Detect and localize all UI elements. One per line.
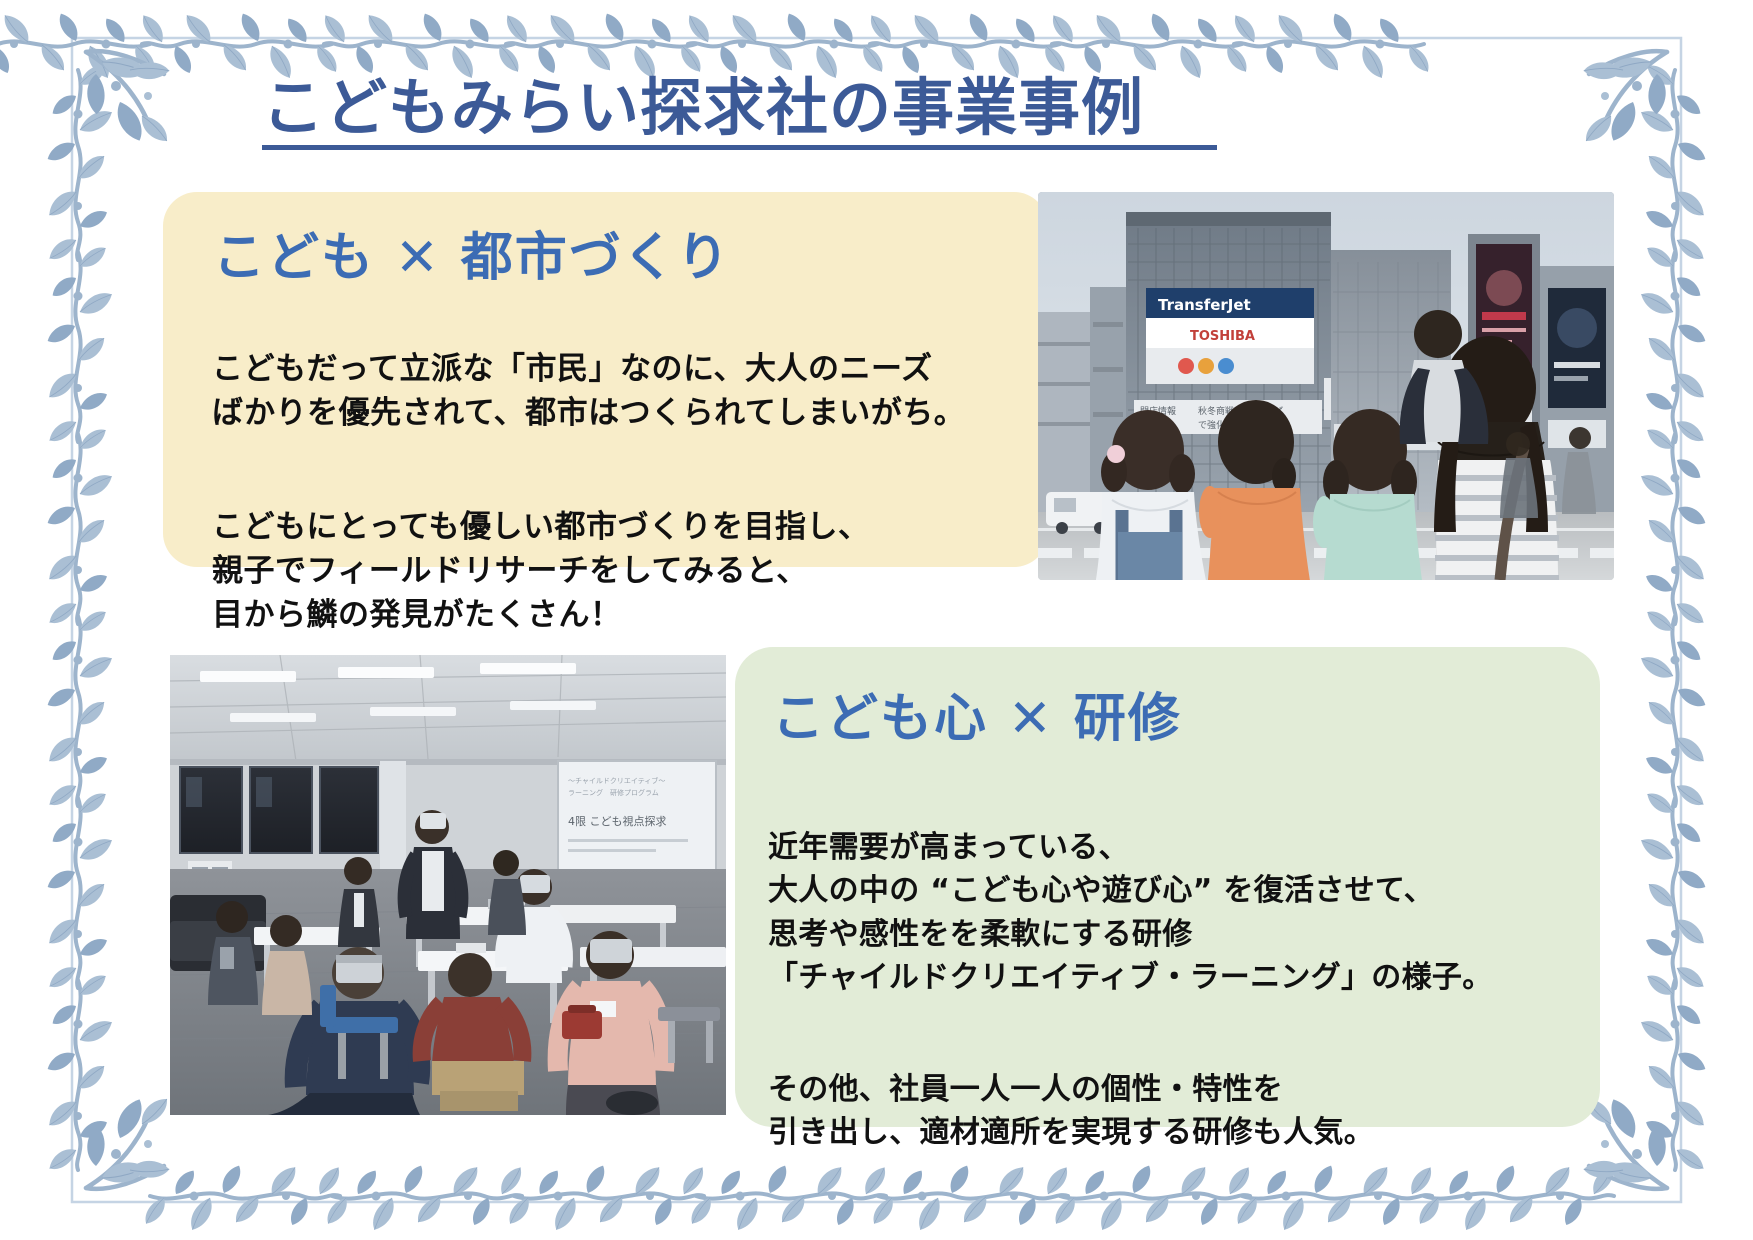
section-body-training: 近年需要が高まっている、 大人の中の “こども心や遊び心” を復活させて、 思考… bbox=[768, 783, 1588, 1198]
svg-text:〜チャイルドクリエイティブ〜: 〜チャイルドクリエイティブ〜 bbox=[568, 776, 665, 785]
svg-text:TOSHIBA: TOSHIBA bbox=[1190, 329, 1255, 344]
svg-text:ラーニング 研修プログラム: ラーニング 研修プログラム bbox=[568, 788, 659, 797]
page-title: こどもみらい探求社の事業事例 bbox=[262, 72, 1262, 143]
photo-training-seminar: 〜チャイルドクリエイティブ〜 ラーニング 研修プログラム 4限 こども視点探求 bbox=[170, 655, 726, 1115]
training-paragraph-2: その他、社員一人一人の個性・特性を 引き出し、適材適所を実現する研修も人気。 bbox=[768, 1068, 1588, 1154]
section-body-city: こどもだって立派な「市民」なのに、大人のニーズ ばかりを優先されて、都市はつくら… bbox=[212, 303, 972, 681]
photo-shibuya-crossing: TransferJet TOSHIBA 開店情報秋冬商戦あいば 駅前店で強化本日… bbox=[1038, 192, 1614, 580]
section-heading-city: こども ✕ 都市づくり bbox=[213, 215, 731, 290]
section-heading-training: こども心 ✕ 研修 bbox=[772, 676, 1182, 751]
title-underline-rule bbox=[262, 145, 1217, 150]
city-paragraph-2: こどもにとっても優しい都市づくりを目指し、 親子でフィールドリサーチをしてみると… bbox=[212, 505, 972, 637]
city-paragraph-1: こどもだって立派な「市民」なのに、大人のニーズ ばかりを優先されて、都市はつくら… bbox=[212, 347, 972, 435]
page-title-block: こどもみらい探求社の事業事例 bbox=[262, 72, 1262, 150]
training-paragraph-1: 近年需要が高まっている、 大人の中の “こども心や遊び心” を復活させて、 思考… bbox=[768, 826, 1588, 999]
svg-text:TransferJet: TransferJet bbox=[1158, 296, 1251, 314]
svg-text:4限 こども視点探求: 4限 こども視点探求 bbox=[568, 814, 667, 828]
